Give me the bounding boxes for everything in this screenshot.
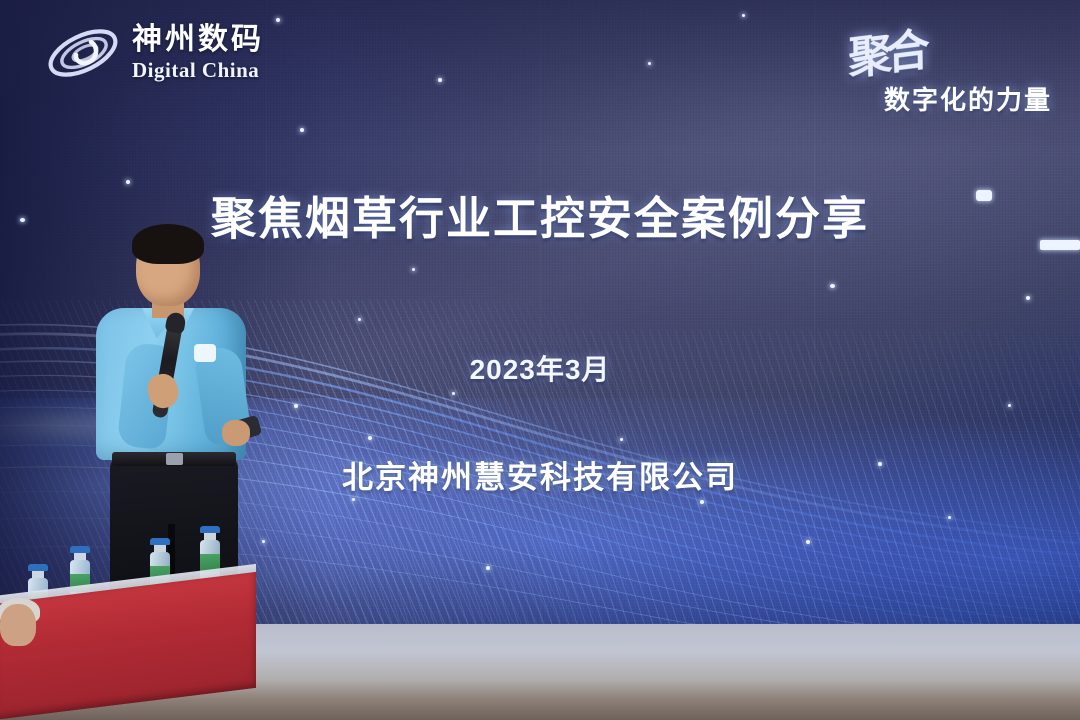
attendee-head [0,604,36,646]
presenter-belt-buckle [166,453,183,465]
brand-logo: 神州数码 Digital China [44,22,264,84]
brand-name-cn: 神州数码 [132,25,264,55]
presenter-hair [132,224,204,264]
digital-china-swirl-icon [44,22,122,84]
brand-name-en: Digital China [132,60,264,81]
brand-wordmark: 神州数码 Digital China [132,25,264,81]
event-slogan: 聚合 数字化的力量 [782,18,1052,118]
presenter-hand-holding-clicker [222,420,250,446]
slogan-subtitle: 数字化的力量 [884,80,1052,117]
audience-table [0,560,264,720]
conference-stage-photo: 聚焦烟草行业工控安全案例分享 2023年3月 北京神州慧安科技有限公司 神州数码… [0,0,1080,720]
presenter-shirt-logo [194,344,216,362]
slogan-calligraphy-mark: 聚合 [848,13,925,87]
